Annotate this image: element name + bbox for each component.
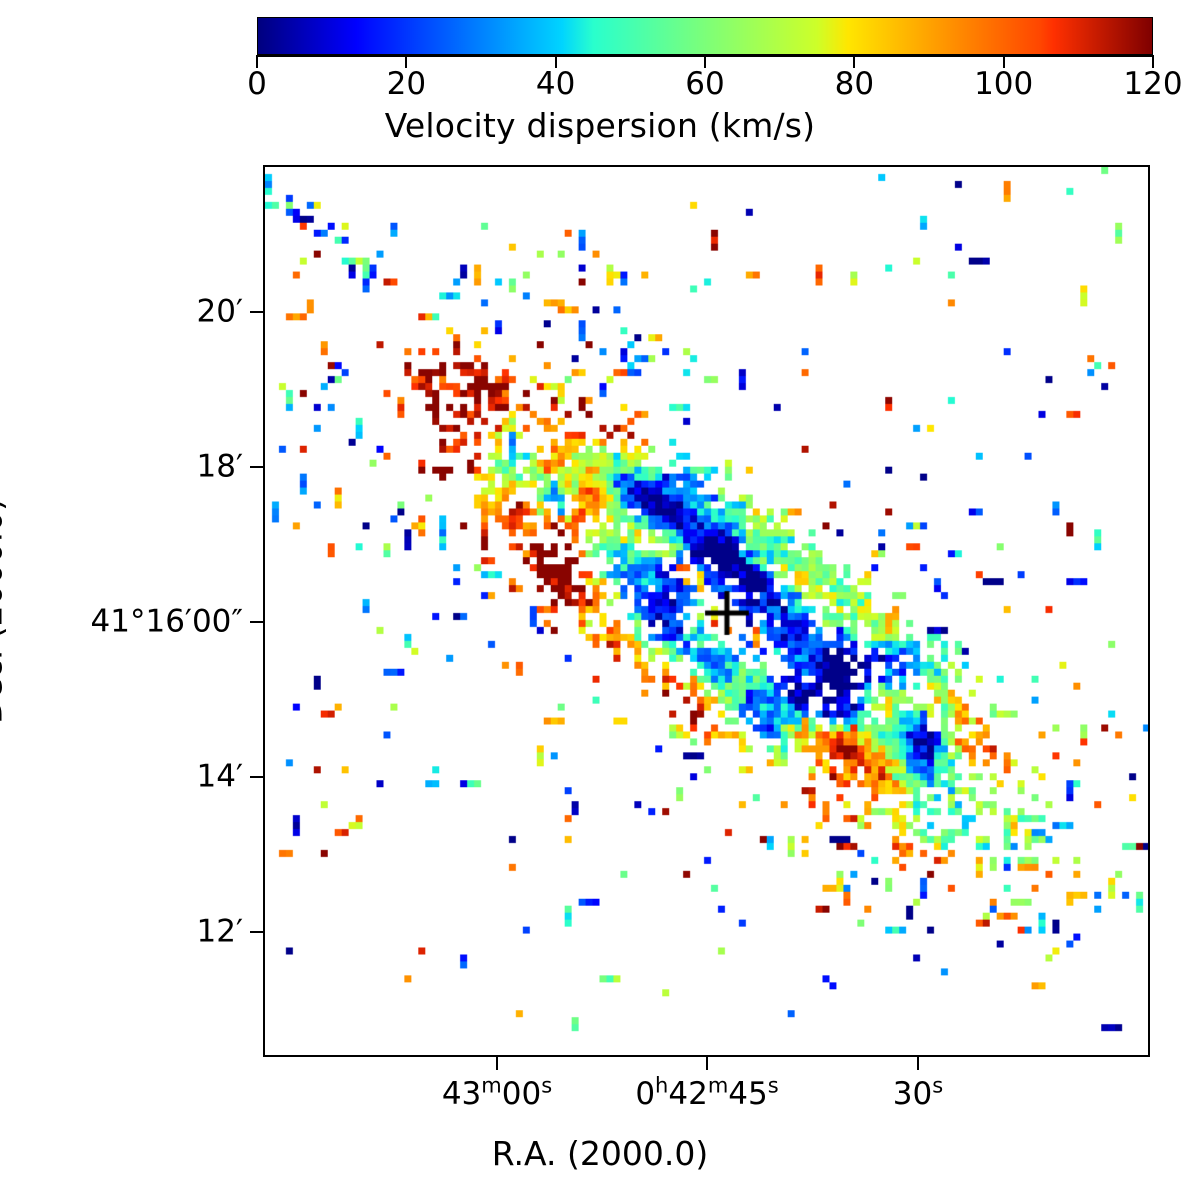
- colorbar-gradient: [257, 17, 1153, 55]
- colorbar-title: Velocity dispersion (km/s): [0, 106, 1200, 145]
- y-axis-tick-label: 18′: [197, 452, 244, 483]
- y-axis-tick: [250, 466, 263, 468]
- sky-map-axes[interactable]: [263, 165, 1150, 1057]
- y-axis-tick-label: 41°16′00″: [91, 607, 243, 638]
- y-axis-tick: [250, 776, 263, 778]
- y-axis-label: Dec. (2000.0): [0, 498, 10, 724]
- colorbar-tick-label: 100: [974, 69, 1033, 100]
- x-axis-tick: [917, 1057, 919, 1070]
- colorbar-tick-label: 80: [835, 69, 874, 100]
- y-axis-tick: [250, 621, 263, 623]
- velocity-dispersion-heatmap: [265, 167, 1148, 1055]
- colorbar-tick-label: 40: [536, 69, 575, 100]
- x-axis-label: R.A. (2000.0): [0, 1134, 1200, 1173]
- y-axis-tick-label: 14′: [197, 762, 244, 793]
- x-axis-tick-label: 0h42m45s: [635, 1079, 778, 1110]
- y-axis-tick: [250, 311, 263, 313]
- x-axis-tick-label: 43m00s: [442, 1079, 552, 1110]
- colorbar-tick-label: 20: [387, 69, 426, 100]
- x-axis-tick: [496, 1057, 498, 1070]
- y-axis-tick-label: 20′: [197, 297, 244, 328]
- y-axis-tick-label: 12′: [197, 917, 244, 948]
- y-axis-tick: [250, 931, 263, 933]
- x-axis-tick: [706, 1057, 708, 1070]
- x-axis-tick-label: 30s: [893, 1079, 943, 1110]
- colorbar-tick-label: 60: [685, 69, 724, 100]
- colorbar-tick-label: 0: [247, 69, 267, 100]
- figure-canvas: 020406080100120 Velocity dispersion (km/…: [0, 0, 1200, 1193]
- colorbar: [257, 17, 1153, 55]
- colorbar-tick-label: 120: [1123, 69, 1182, 100]
